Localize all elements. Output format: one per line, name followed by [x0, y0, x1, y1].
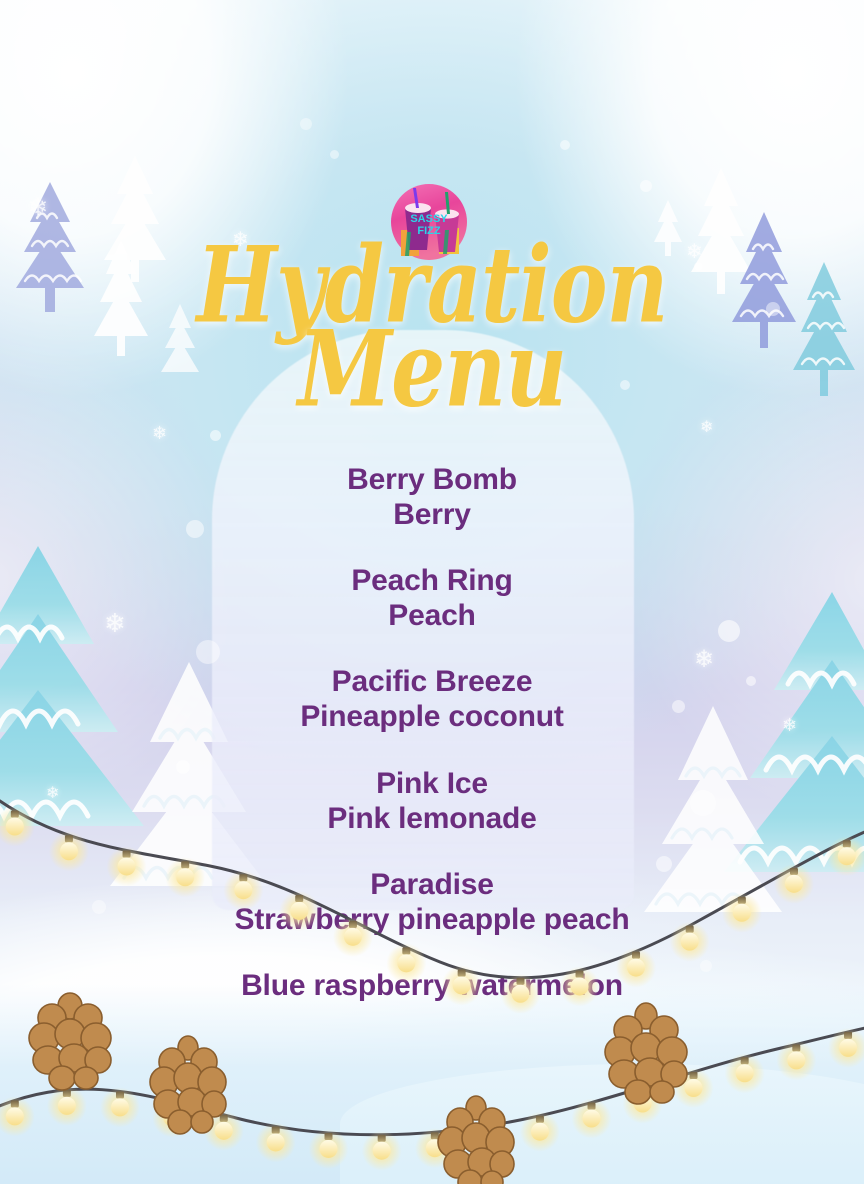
bokeh-dot [330, 150, 339, 159]
light-bulb [681, 933, 699, 951]
menu-item-description: Berry [0, 497, 864, 532]
bokeh-dot [766, 302, 780, 316]
light-bulb [290, 902, 308, 920]
logo-text-line-2: FIZZ [417, 225, 440, 237]
light-bulb [320, 1140, 338, 1158]
sassy-fizz-logo: SASSY FIZZ [383, 178, 475, 266]
bokeh-dot [694, 262, 703, 271]
snowflake-icon: ❄ [686, 242, 703, 262]
menu-item: Peach Ring Peach [0, 563, 864, 633]
logo-text-line-1: SASSY [410, 213, 448, 225]
menu-item-name: Pacific Breeze [0, 664, 864, 699]
bokeh-dot [300, 118, 312, 130]
menu-item-name: Berry Bomb [0, 462, 864, 497]
tree-teal-upper-left [86, 236, 156, 376]
pinecone-icon [136, 1032, 240, 1149]
light-bulb [118, 857, 136, 875]
light-bulb [6, 1107, 24, 1125]
light-bulb [397, 954, 415, 972]
light-bulb [838, 847, 856, 865]
light-bulb [344, 928, 362, 946]
bokeh-dot [560, 140, 570, 150]
light-bulb [571, 977, 589, 995]
menu-item-name: Peach Ring [0, 563, 864, 598]
light-bulb [531, 1123, 549, 1141]
light-bulb [787, 1051, 805, 1069]
menu-item-description: Peach [0, 598, 864, 633]
light-bulb [627, 959, 645, 977]
tree-periwinkle-upper-left [6, 178, 94, 328]
light-bulb [733, 904, 751, 922]
poster-canvas: ❄ ❄ ❄ ❄ ❄ ❄ ❄ ❄ ❄ [0, 0, 864, 1184]
light-bulb [60, 842, 78, 860]
tree-white-upper-right [648, 196, 688, 276]
bokeh-dot [620, 380, 630, 390]
light-bulb [373, 1142, 391, 1160]
bokeh-dot [640, 180, 652, 192]
light-bulb [511, 985, 529, 1003]
light-bulb [453, 976, 471, 994]
tree-teal-upper-right [786, 258, 862, 414]
pinecone-icon [424, 1094, 528, 1184]
bokeh-dot [210, 430, 221, 441]
light-bulb [6, 818, 24, 836]
menu-item-description: Pineapple coconut [0, 699, 864, 734]
pinecone-icon [14, 986, 126, 1103]
snowflake-icon: ❄ [700, 420, 713, 436]
pinecone-icon [592, 1000, 700, 1117]
tree-white-small-left [158, 300, 202, 386]
light-bulb [176, 868, 194, 886]
snowflake-icon: ❄ [152, 424, 167, 442]
light-bulb [785, 875, 803, 893]
menu-item: Berry Bomb Berry [0, 462, 864, 532]
snowflake-icon: ❄ [28, 196, 48, 220]
light-bulb [736, 1064, 754, 1082]
light-bulb [234, 881, 252, 899]
snowflake-icon: ❄ [232, 230, 249, 250]
light-bulb [839, 1039, 857, 1057]
light-bulb [267, 1133, 285, 1151]
menu-item: Pacific Breeze Pineapple coconut [0, 664, 864, 734]
